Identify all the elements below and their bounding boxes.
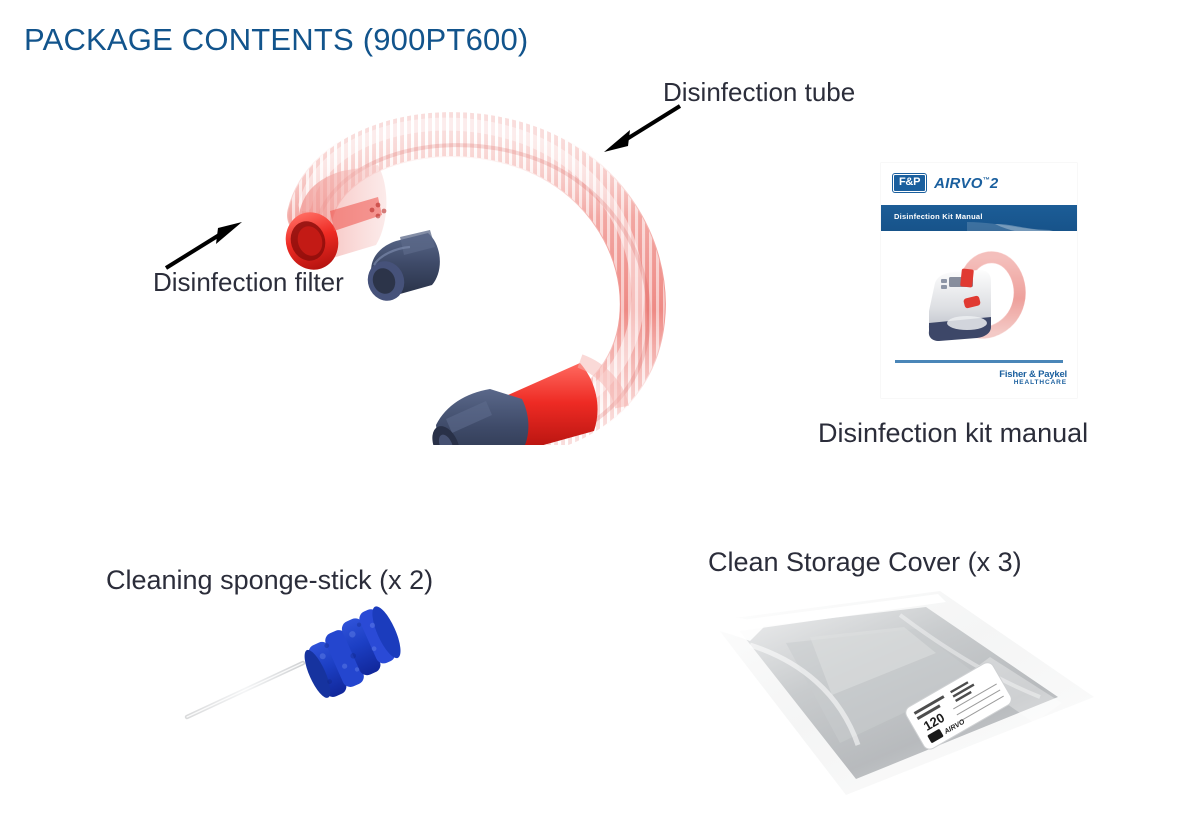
airvo-model-number: 2 <box>990 175 999 192</box>
manual-title-band: Disinfection Kit Manual <box>881 205 1077 231</box>
band-swoosh-graphic <box>967 218 1077 238</box>
airvo-trademark-icon: ™ <box>983 177 990 184</box>
fisher-paykel-healthcare-sub: HEALTHCARE <box>999 380 1067 387</box>
disinfection-kit-manual-cover: F&P AIRVO™2 Disinfection Kit Manual <box>881 163 1077 398</box>
airvo-wordmark: AIRVO™2 <box>934 176 998 191</box>
tube-red-cuff-upper <box>278 165 386 277</box>
sponge-head <box>295 605 410 703</box>
fp-logo-badge: F&P <box>893 174 926 192</box>
arrow-to-disinfection-filter <box>158 218 248 273</box>
callout-label-disinfection-tube: Disinfection tube <box>663 77 855 108</box>
manual-footer-brand: Fisher & Paykel HEALTHCARE <box>999 370 1067 387</box>
manual-brand-row: F&P AIRVO™2 <box>893 174 998 192</box>
package-contents-page: PACKAGE CONTENTS (900PT600) <box>0 0 1190 832</box>
caption-cleaning-sponge-stick: Cleaning sponge-stick (x 2) <box>106 565 433 596</box>
airvo-device-photo <box>923 239 1041 357</box>
airvo-wordmark-text: AIRVO <box>934 175 983 192</box>
cleaning-sponge-stick-illustration <box>175 605 445 730</box>
caption-clean-storage-cover: Clean Storage Cover (x 3) <box>708 547 1022 578</box>
clean-storage-cover-illustration: 120 AIRVO <box>690 585 1110 810</box>
caption-disinfection-kit-manual: Disinfection kit manual <box>818 418 1088 449</box>
arrow-to-disinfection-tube <box>596 102 686 157</box>
page-title: PACKAGE CONTENTS (900PT600) <box>24 22 528 58</box>
manual-footer-rule <box>895 360 1063 363</box>
